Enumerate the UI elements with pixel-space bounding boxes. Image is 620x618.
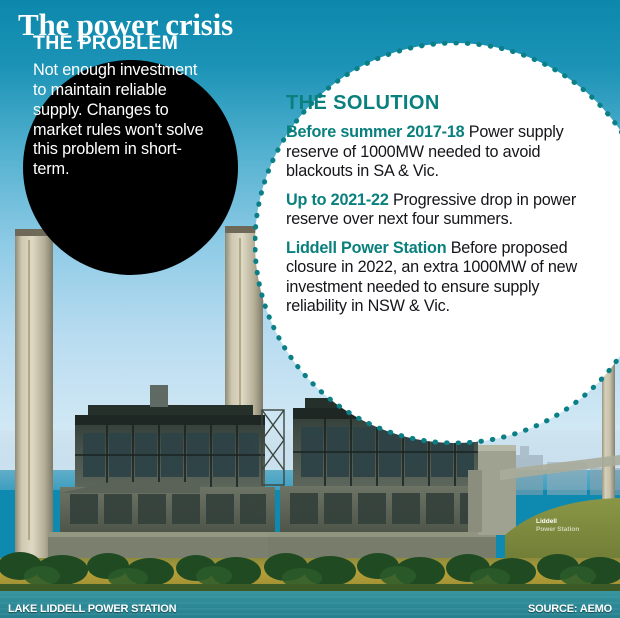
solution-content: THE SOLUTION Before summer 2017-18 Power… <box>286 92 598 326</box>
problem-content: THE PROBLEM Not enough investment to mai… <box>33 33 211 180</box>
caption-bar: LAKE LIDDELL POWER STATION SOURCE: AEMO <box>0 599 620 618</box>
caption-left: LAKE LIDDELL POWER STATION <box>8 603 176 615</box>
solution-item-1-lead: Before summer 2017-18 <box>286 123 464 141</box>
liddell-plant-sign: Liddell Power Station <box>536 518 579 534</box>
solution-item-3: Liddell Power Station Before proposed cl… <box>286 239 598 317</box>
problem-body: Not enough investment to maintain reliab… <box>33 61 211 179</box>
solution-item-2-lead: Up to 2021-22 <box>286 191 389 209</box>
solution-item-3-lead: Liddell Power Station <box>286 239 446 257</box>
infographic-root: Liddell Power Station THE SOLUTION Befor… <box>0 0 620 618</box>
page-title-text: The power crisis <box>18 8 233 42</box>
plant-sign-line2: Power Station <box>536 526 579 534</box>
page-title: The power crisis <box>18 8 233 42</box>
solution-item-2: Up to 2021-22 Progressive drop in power … <box>286 191 598 230</box>
plant-sign-line1: Liddell <box>536 518 579 526</box>
caption-source: SOURCE: AEMO <box>528 603 612 615</box>
solution-item-1: Before summer 2017-18 Power supply reser… <box>286 123 598 182</box>
solution-heading: THE SOLUTION <box>286 92 598 114</box>
